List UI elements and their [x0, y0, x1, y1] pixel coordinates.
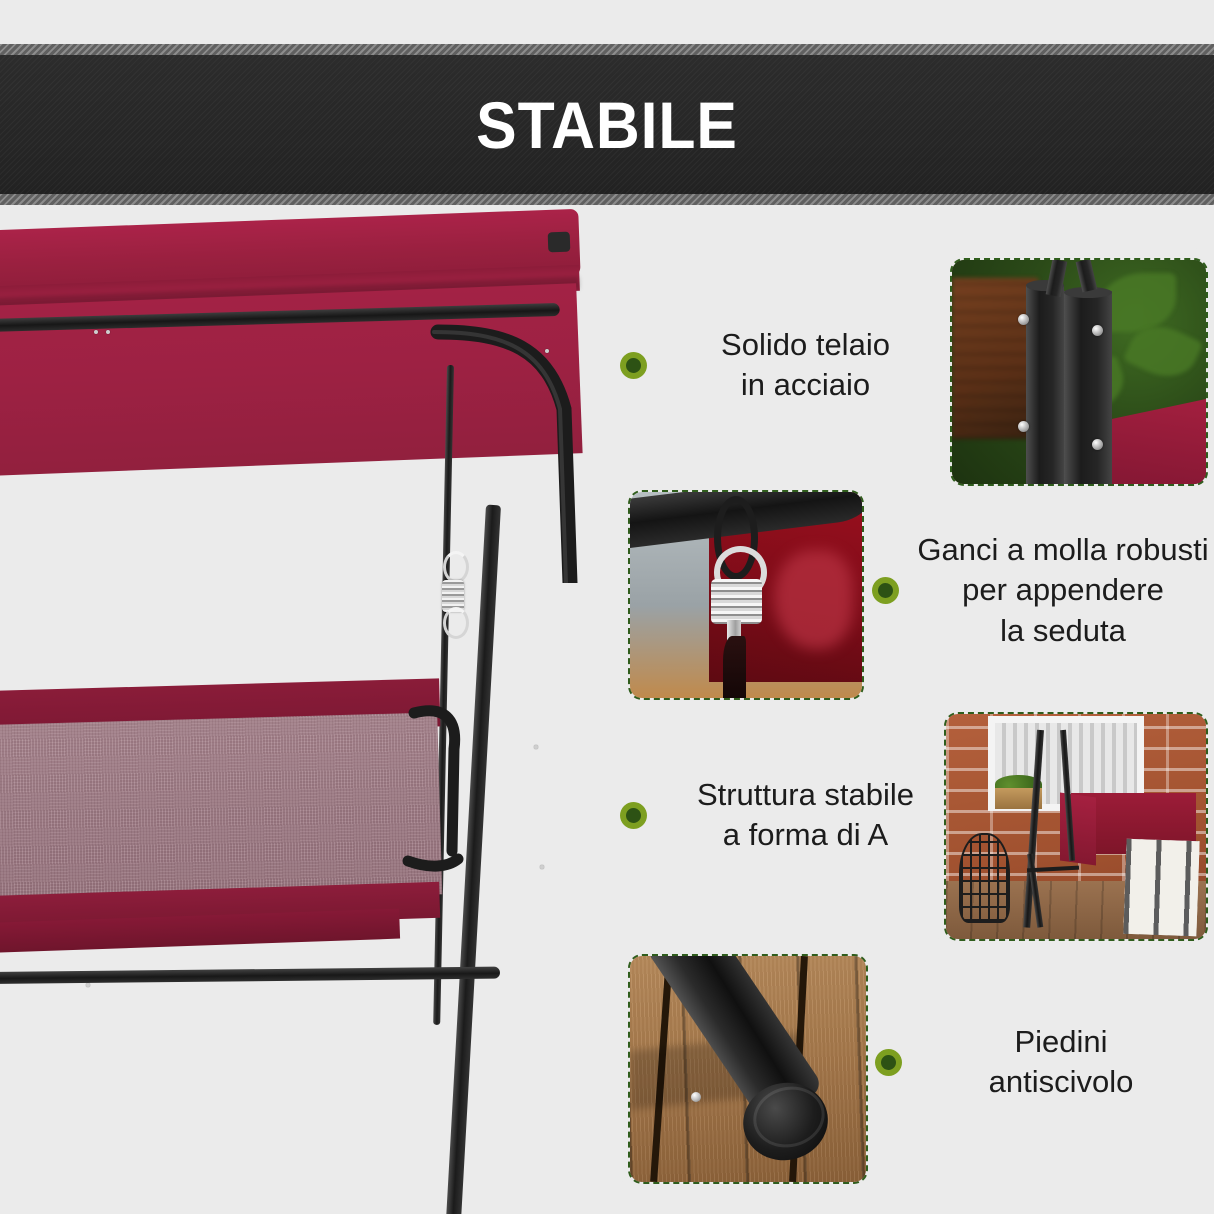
green-dot-bullet-icon	[872, 577, 899, 604]
frame-curved-upright	[430, 323, 620, 583]
steel-tube-front	[1064, 291, 1112, 484]
spring-hook-ring-upper	[443, 551, 469, 583]
frame-screw	[94, 330, 98, 334]
spring-hook-detail-photo	[618, 480, 870, 706]
frame-screw	[106, 330, 110, 334]
frame-screw	[534, 745, 538, 749]
screw-icon	[1092, 325, 1103, 336]
red-highlight-blur	[774, 550, 853, 649]
frame-screw	[86, 983, 90, 987]
lower-hook-shadow	[723, 636, 746, 698]
feature-item-steel-frame: Solido telaio in acciaio	[620, 325, 950, 406]
frame-cross-bar	[0, 967, 500, 987]
steel-frame-detail-photo	[940, 248, 1214, 492]
feature-label: Piedini antiscivolo	[916, 1022, 1206, 1103]
inset-photo-content	[952, 260, 1206, 484]
seat-armrest	[400, 701, 470, 916]
feature-item-anti-slip-feet: Piedini antiscivolo	[875, 1022, 1210, 1103]
inset-dashed-border	[628, 490, 864, 700]
feature-label: Struttura stabile a forma di A	[661, 775, 950, 856]
inset-dashed-border	[944, 712, 1208, 941]
feature-item-spring-hooks: Ganci a molla robusti per appendere la s…	[872, 530, 1214, 651]
screw-icon	[1018, 314, 1029, 325]
frame-screw	[540, 865, 544, 869]
plaid-blanket	[1124, 839, 1200, 936]
a-frame-lifestyle-photo	[934, 702, 1214, 947]
inset-dashed-border	[950, 258, 1208, 486]
deck-screw-icon	[691, 1092, 701, 1102]
inset-photo-content	[630, 956, 866, 1182]
feature-label: Ganci a molla robusti per appendere la s…	[913, 530, 1213, 651]
feature-label: Solido telaio in acciaio	[661, 325, 950, 406]
product-photo	[0, 205, 620, 1214]
spring-hook-ring-lower	[443, 607, 469, 639]
inset-photo-content	[946, 714, 1206, 939]
inset-photo-content	[630, 492, 862, 698]
feature-item-a-frame: Struttura stabile a forma di A	[620, 775, 950, 856]
green-dot-bullet-icon	[875, 1049, 902, 1076]
green-dot-bullet-icon	[620, 352, 647, 379]
chrome-coil-spring	[711, 579, 762, 624]
inset-dashed-border	[628, 954, 868, 1184]
page-title: STABILE	[49, 44, 1166, 205]
green-dot-bullet-icon	[620, 802, 647, 829]
screw-icon	[1092, 439, 1103, 450]
anti-slip-foot-detail-photo	[618, 944, 874, 1190]
canopy-end-cap	[548, 232, 571, 253]
infographic-page: STABILE	[0, 0, 1214, 1214]
steel-tube-rear	[1026, 285, 1064, 484]
wire-lantern	[959, 833, 1010, 923]
